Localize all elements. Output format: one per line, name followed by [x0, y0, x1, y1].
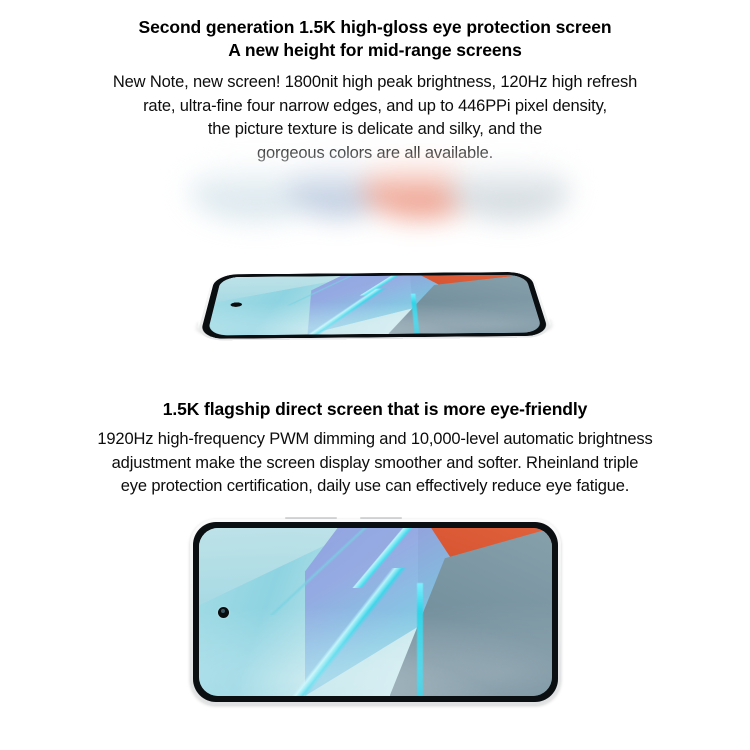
section-1-body-line-1: New Note, new screen! 1800nit high peak …: [0, 71, 750, 95]
section-1-heading-line-1: Second generation 1.5K high-gloss eye pr…: [0, 16, 750, 39]
wallpaper-art: [199, 528, 552, 696]
section-1-body-line-3: the picture texture is delicate and silk…: [0, 118, 750, 142]
section-1-body-line-4: gorgeous colors are all available.: [0, 142, 750, 166]
wallpaper-art: [206, 275, 542, 336]
section-1-heading-line-2: A new height for mid-range screens: [0, 39, 750, 62]
section-1-heading: Second generation 1.5K high-gloss eye pr…: [0, 16, 750, 62]
section-2-heading: 1.5K flagship direct screen that is more…: [0, 398, 750, 421]
section-2-body-line-1: 1920Hz high-frequency PWM dimming and 10…: [0, 428, 750, 452]
phone-screen: [206, 275, 542, 336]
phone-angled-body: [196, 271, 554, 341]
phone-outer-frame: [190, 519, 561, 705]
phone-screen: [199, 528, 552, 696]
section-2-heading-line-1: 1.5K flagship direct screen that is more…: [0, 398, 750, 421]
section-1-body-line-2: rate, ultra-fine four narrow edges, and …: [0, 95, 750, 119]
section-2-body-line-3: eye protection certification, daily use …: [0, 475, 750, 499]
smartphone-angled-display: [196, 204, 554, 339]
phone-bezel: [193, 522, 558, 702]
product-display-page: Second generation 1.5K high-gloss eye pr…: [0, 0, 750, 750]
phone-outer-frame: [196, 271, 554, 341]
phone-bezel: [199, 272, 550, 339]
section-2-body-line-2: adjustment make the screen display smoot…: [0, 452, 750, 476]
section-2-body: 1920Hz high-frequency PWM dimming and 10…: [0, 428, 750, 499]
front-camera-icon: [218, 607, 229, 618]
section-1-body: New Note, new screen! 1800nit high peak …: [0, 71, 750, 165]
wallpaper-specular-sheen: [199, 528, 552, 696]
wallpaper-specular-sheen: [206, 275, 542, 336]
smartphone-flat-display: [190, 519, 561, 705]
